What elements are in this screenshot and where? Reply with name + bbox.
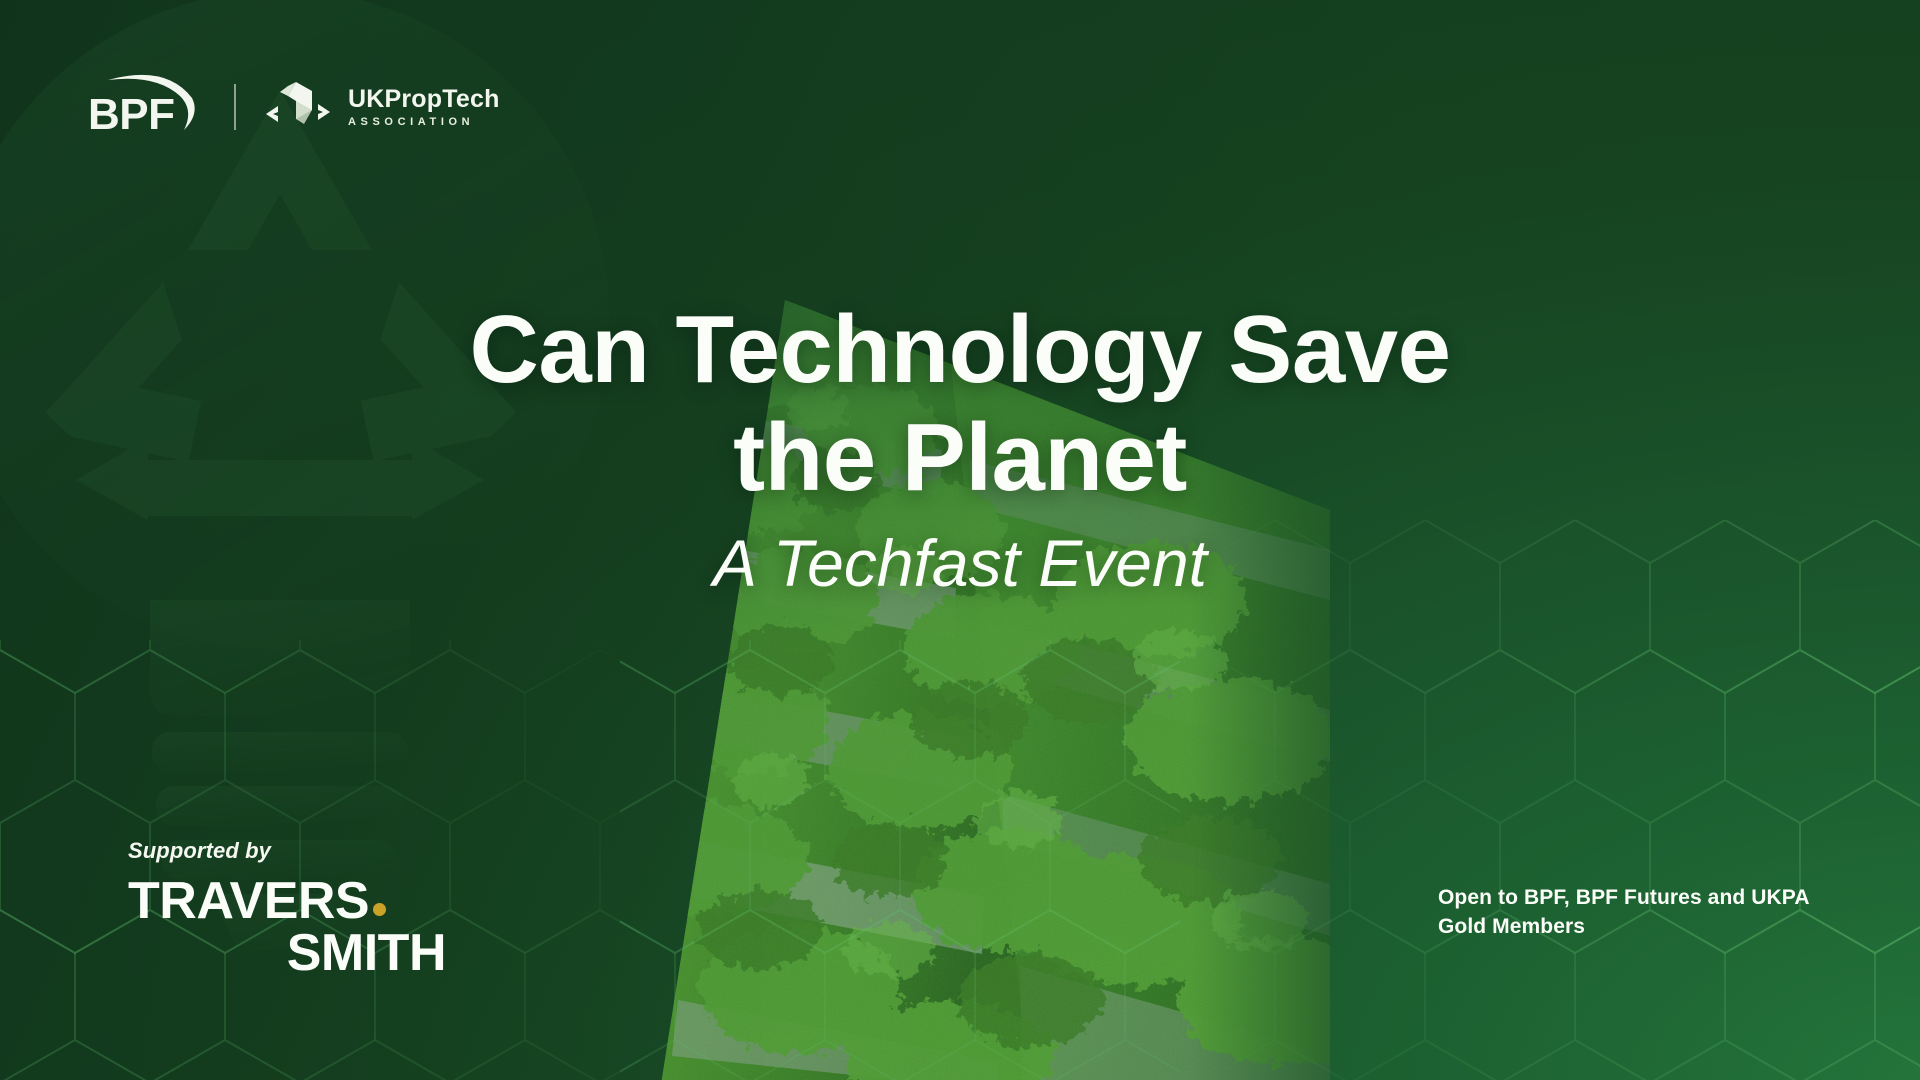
ukpa-tagline: ASSOCIATION [348, 116, 500, 128]
bpf-logo[interactable]: BPF [88, 68, 208, 146]
ukpa-logo[interactable]: UKPropTech ASSOCIATION [262, 80, 500, 134]
supporter-block: Supported by TRAVERS SMITH [128, 838, 448, 979]
bpf-wordmark: BPF [88, 90, 175, 140]
ukpa-wordmark: UKPropTech [348, 86, 500, 112]
supported-by-label: Supported by [128, 838, 448, 864]
travers-smith-logo[interactable]: TRAVERS [128, 878, 448, 926]
eligibility-note: Open to BPF, BPF Futures and UKPA Gold M… [1438, 884, 1838, 941]
logo-divider [234, 84, 236, 130]
smith-wordmark: SMITH [128, 928, 448, 979]
event-promo-slide: BPF UKPropTech ASSOCIATION Can Technolog… [0, 0, 1920, 1080]
travers-smith-dot-icon [373, 903, 386, 916]
partner-logos: BPF UKPropTech ASSOCIATION [88, 68, 500, 146]
ukpa-isometric-cube-arrow-icon [262, 80, 336, 134]
travers-wordmark: TRAVERS [128, 878, 369, 926]
